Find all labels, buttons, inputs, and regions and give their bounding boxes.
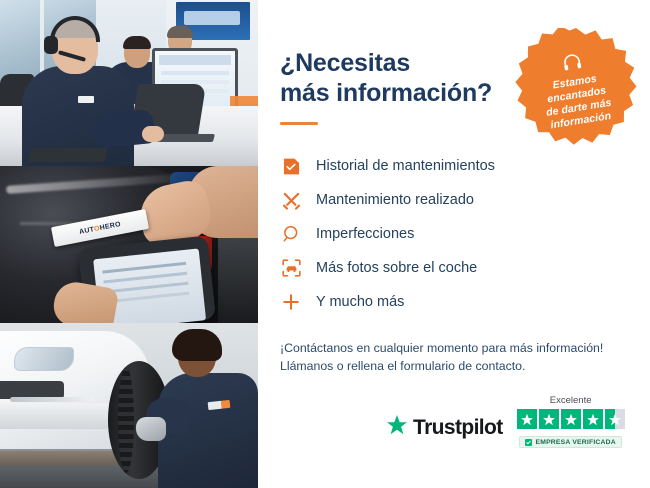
star-half	[605, 409, 625, 429]
autohero-ruler-brand: AUTOHERO	[79, 221, 122, 236]
content-panel: ¿Necesitas más información? Estamos enca…	[258, 0, 650, 488]
feature-label: Historial de mantenimientos	[316, 158, 495, 174]
mechanic-glove	[136, 417, 166, 441]
contact-line-2: Llámanos o rellena el formulario de cont…	[280, 357, 628, 375]
feature-label: Más fotos sobre el coche	[316, 260, 477, 276]
document-check-icon	[280, 155, 302, 177]
trustpilot-logo[interactable]: Trustpilot	[386, 415, 503, 448]
vehicle-inspection-photo: AUTOHERO	[0, 166, 258, 323]
lift-ramp	[0, 451, 130, 465]
agent-name-badge	[78, 96, 94, 103]
feature-label: Y mucho más	[316, 294, 404, 310]
magnifier-icon	[280, 223, 302, 245]
tyre-tread	[118, 367, 134, 473]
trustpilot-score: Excelente	[517, 395, 625, 448]
information-banner: AUTOHERO	[0, 0, 650, 488]
check-icon	[525, 439, 532, 446]
call-centre-agent-photo	[0, 0, 258, 166]
feature-item-maintenance-done: Mantenimiento realizado	[280, 189, 628, 211]
feature-list: Historial de mantenimientos Mantenimient…	[280, 155, 628, 313]
feature-label: Imperfecciones	[316, 226, 414, 242]
feature-item-maintenance-history: Historial de mantenimientos	[280, 155, 628, 177]
star-filled	[517, 409, 537, 429]
headset-icon	[561, 53, 583, 77]
feature-label: Mantenimiento realizado	[316, 192, 474, 208]
plus-icon	[280, 291, 302, 313]
car-headlight	[14, 347, 74, 371]
feature-item-much-more: Y mucho más	[280, 291, 628, 313]
page-title: ¿Necesitas más información?	[280, 48, 520, 108]
background-person-one-hair	[123, 36, 151, 49]
title-accent-rule	[280, 122, 318, 125]
star-filled	[539, 409, 559, 429]
star-filled	[561, 409, 581, 429]
trustpilot-stars	[517, 409, 625, 429]
trustpilot-rating-label: Excelente	[550, 395, 592, 406]
car-chrome-trim	[10, 397, 94, 402]
background-person-two-hair	[167, 26, 193, 38]
trustpilot-rating[interactable]: Trustpilot Excelente	[386, 395, 625, 448]
keyboard	[29, 148, 108, 162]
agent-hand	[142, 126, 164, 142]
badge-content: Estamos encantados de darte más informac…	[505, 19, 647, 161]
page-title-line-1: ¿Necesitas	[280, 49, 410, 77]
page-title-line-2: más información?	[280, 79, 492, 107]
promo-badge: Estamos encantados de darte más informac…	[514, 28, 638, 152]
car-bumper	[0, 403, 110, 429]
mechanic-wheel-photo	[0, 323, 258, 488]
mechanic-hair	[172, 329, 222, 361]
contact-copy: ¡Contáctanos en cualquier momento para m…	[280, 339, 628, 375]
contact-line-1: ¡Contáctanos en cualquier momento para m…	[280, 339, 628, 357]
feature-item-imperfections: Imperfecciones	[280, 223, 628, 245]
verified-company-badge: EMPRESA VERIFICADA	[519, 436, 621, 448]
car-frame-icon	[280, 257, 302, 279]
trustpilot-wordmark: Trustpilot	[413, 416, 503, 440]
wrench-screwdriver-icon	[280, 189, 302, 211]
badge-text: Estamos encantados de darte más informac…	[541, 71, 614, 133]
trustpilot-star-icon	[386, 415, 408, 441]
star-filled	[583, 409, 603, 429]
feature-item-more-photos: Más fotos sobre el coche	[280, 257, 628, 279]
photo-column: AUTOHERO	[0, 0, 258, 488]
agent-headset-earcup	[44, 36, 58, 54]
verified-company-label: EMPRESA VERIFICADA	[535, 439, 615, 446]
